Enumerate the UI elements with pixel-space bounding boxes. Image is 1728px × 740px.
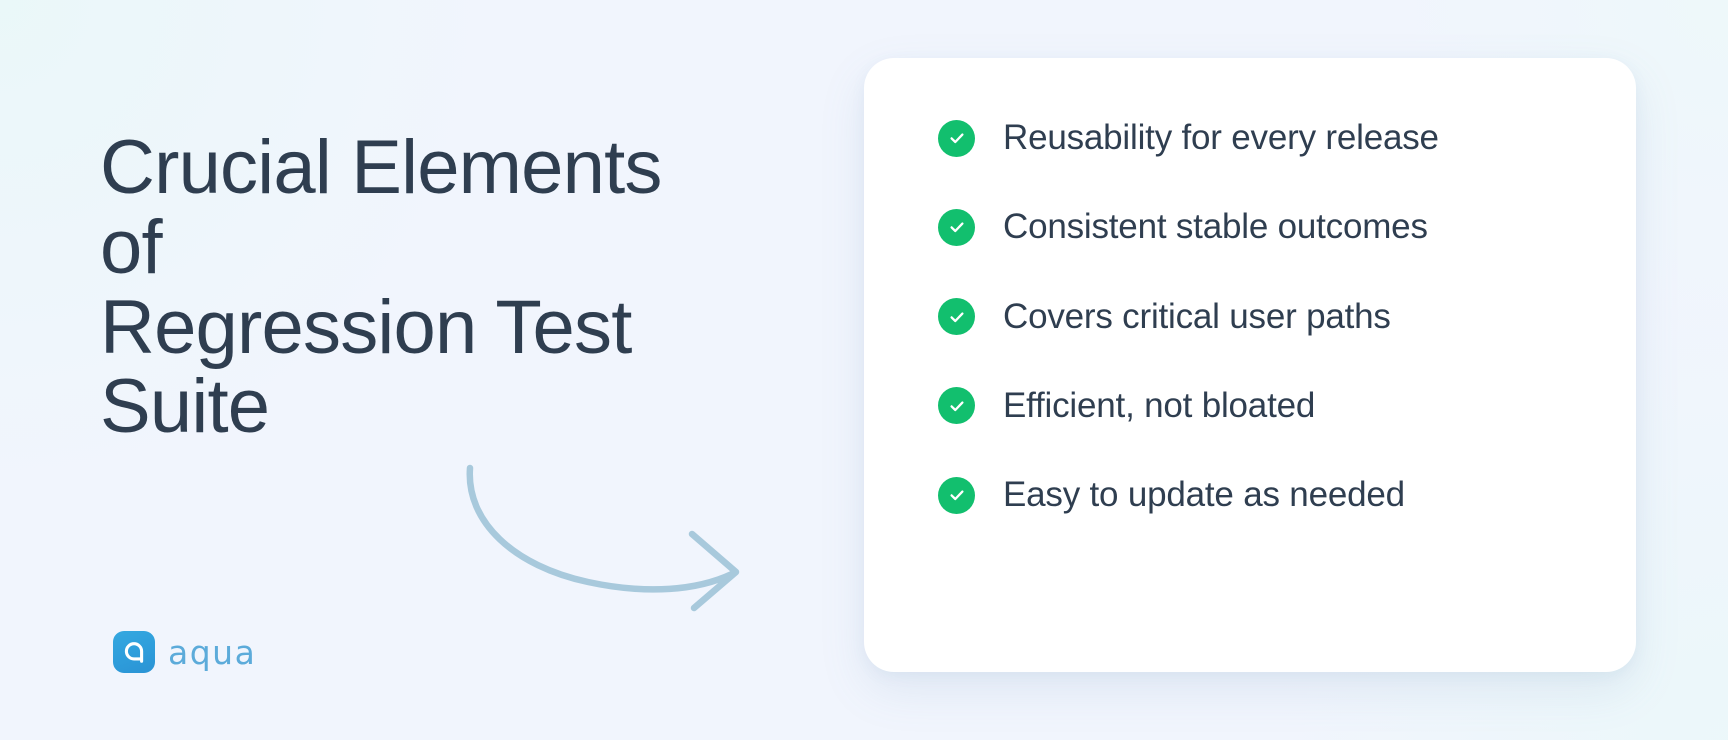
list-item: Efficient, not bloated xyxy=(938,386,1574,426)
check-circle-icon xyxy=(938,477,975,514)
left-column: Crucial Elements of Regression Test Suit… xyxy=(0,0,840,740)
aqua-wordmark: aqua xyxy=(168,636,256,669)
list-item-label: Consistent stable outcomes xyxy=(1003,207,1428,247)
check-circle-icon xyxy=(938,209,975,246)
list-item: Consistent stable outcomes xyxy=(938,207,1574,247)
benefits-list: Reusability for every release Consistent… xyxy=(938,118,1574,515)
list-item-label: Reusability for every release xyxy=(1003,118,1439,158)
aqua-logo: aqua xyxy=(113,631,256,673)
list-item-label: Efficient, not bloated xyxy=(1003,386,1315,426)
curved-arrow xyxy=(440,450,760,610)
page-title: Crucial Elements of Regression Test Suit… xyxy=(100,128,740,447)
list-item: Reusability for every release xyxy=(938,118,1574,158)
check-circle-icon xyxy=(938,298,975,335)
benefits-card: Reusability for every release Consistent… xyxy=(864,58,1636,672)
list-item: Covers critical user paths xyxy=(938,297,1574,337)
list-item: Easy to update as needed xyxy=(938,475,1574,515)
slide-canvas: Crucial Elements of Regression Test Suit… xyxy=(0,0,1728,740)
list-item-label: Covers critical user paths xyxy=(1003,297,1391,337)
check-circle-icon xyxy=(938,120,975,157)
aqua-logo-mark-icon xyxy=(113,631,155,673)
check-circle-icon xyxy=(938,387,975,424)
list-item-label: Easy to update as needed xyxy=(1003,475,1405,515)
